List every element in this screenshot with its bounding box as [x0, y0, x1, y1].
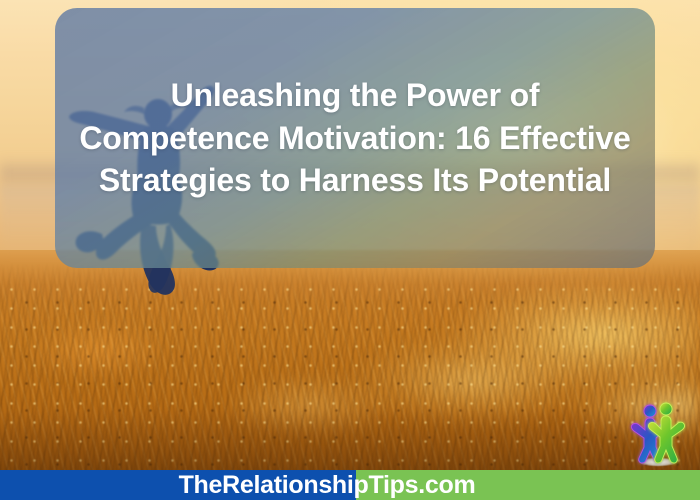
site-name-label: TheRelationshipTips.com — [0, 470, 700, 500]
page-title: Unleashing the Power of Competence Motiv… — [79, 74, 631, 202]
two-people-logo[interactable] — [620, 398, 696, 470]
screenshot-root: Unleashing the Power of Competence Motiv… — [0, 0, 700, 500]
site-footer-bar: TheRelationshipTips.com — [0, 470, 700, 500]
title-overlay-panel: Unleashing the Power of Competence Motiv… — [55, 8, 655, 268]
